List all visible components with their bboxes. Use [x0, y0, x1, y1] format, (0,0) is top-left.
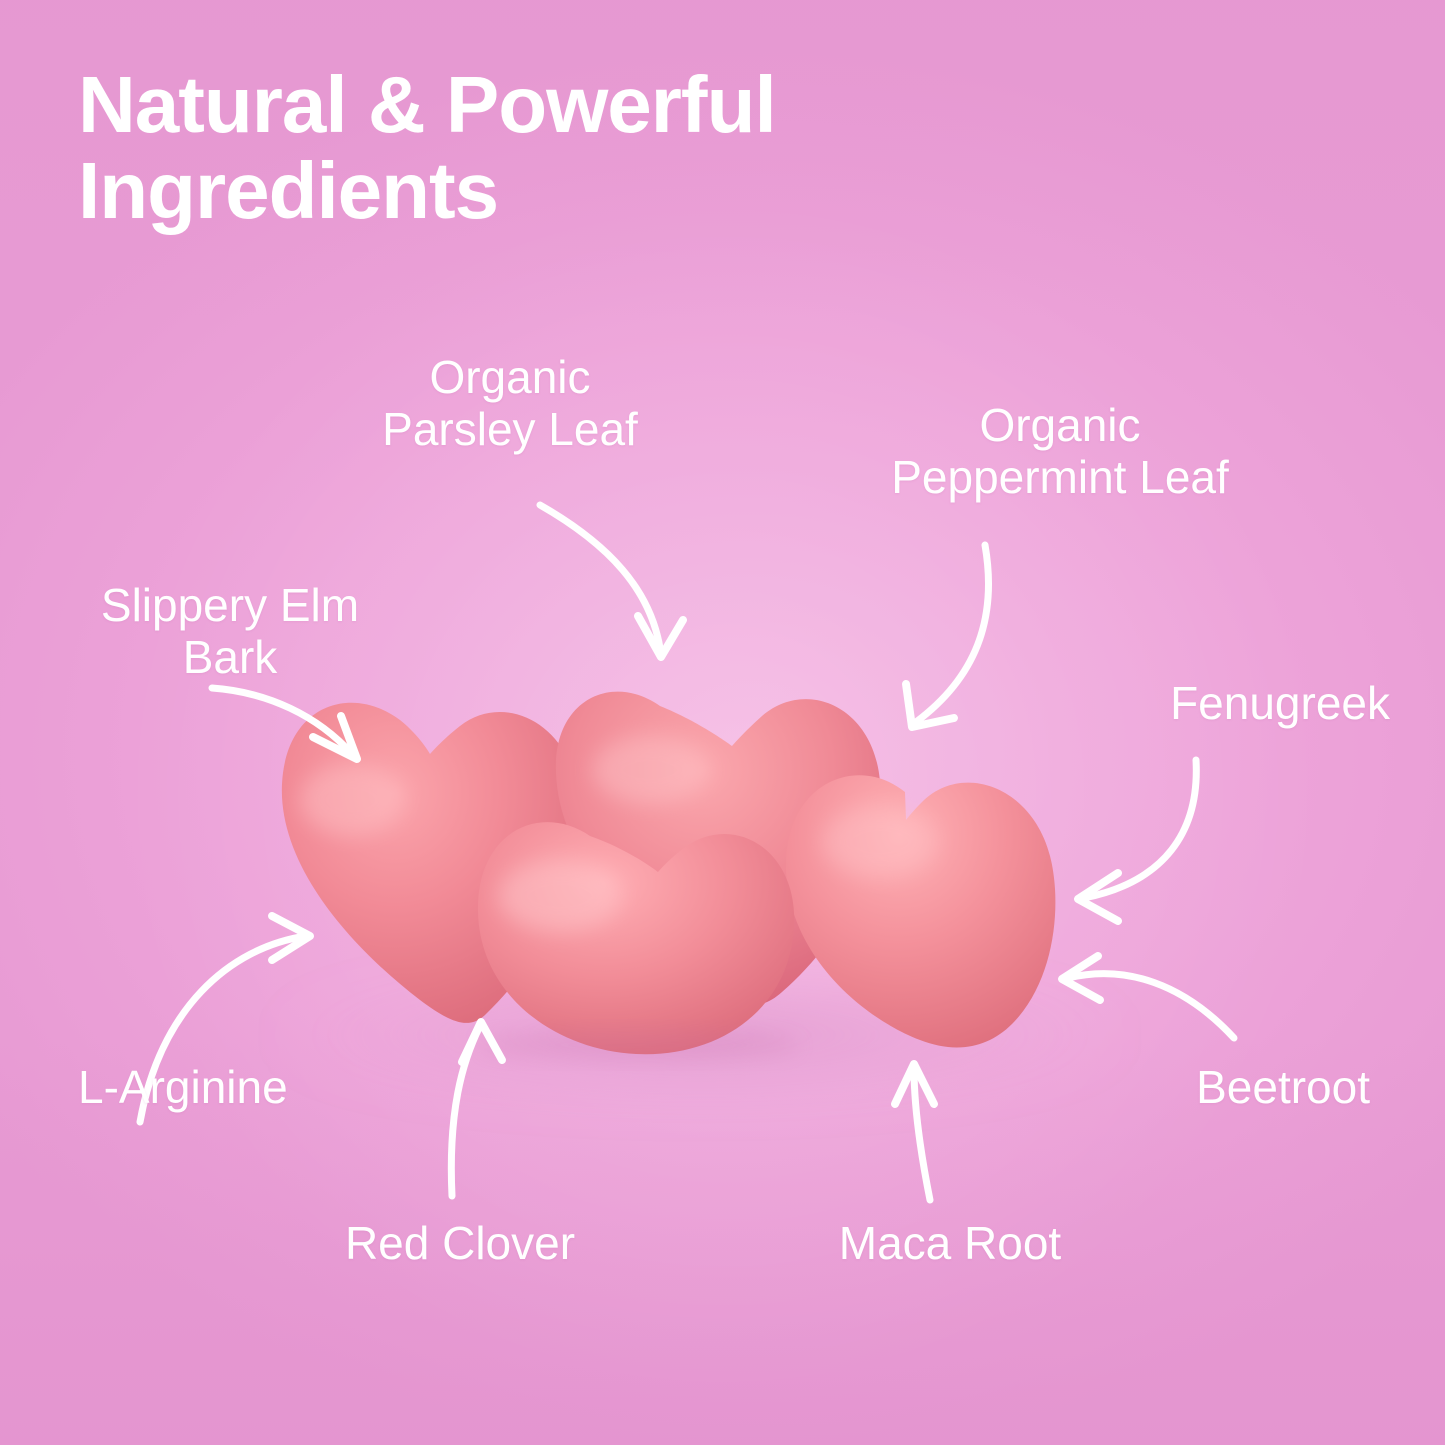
page-title: Natural & Powerful Ingredients	[78, 62, 1078, 235]
label-slippery-elm-bark: Slippery Elm Bark	[30, 580, 430, 683]
ingredients-infographic: Natural & Powerful Ingredients	[0, 0, 1445, 1445]
label-organic-peppermint-leaf: Organic Peppermint Leaf	[760, 400, 1360, 503]
label-l-arginine: L-Arginine	[78, 1062, 478, 1114]
label-red-clover: Red Clover	[250, 1218, 670, 1270]
label-beetroot: Beetroot	[960, 1062, 1370, 1114]
label-fenugreek: Fenugreek	[930, 678, 1390, 730]
label-maca-root: Maca Root	[740, 1218, 1160, 1270]
label-organic-parsley-leaf: Organic Parsley Leaf	[300, 352, 720, 455]
